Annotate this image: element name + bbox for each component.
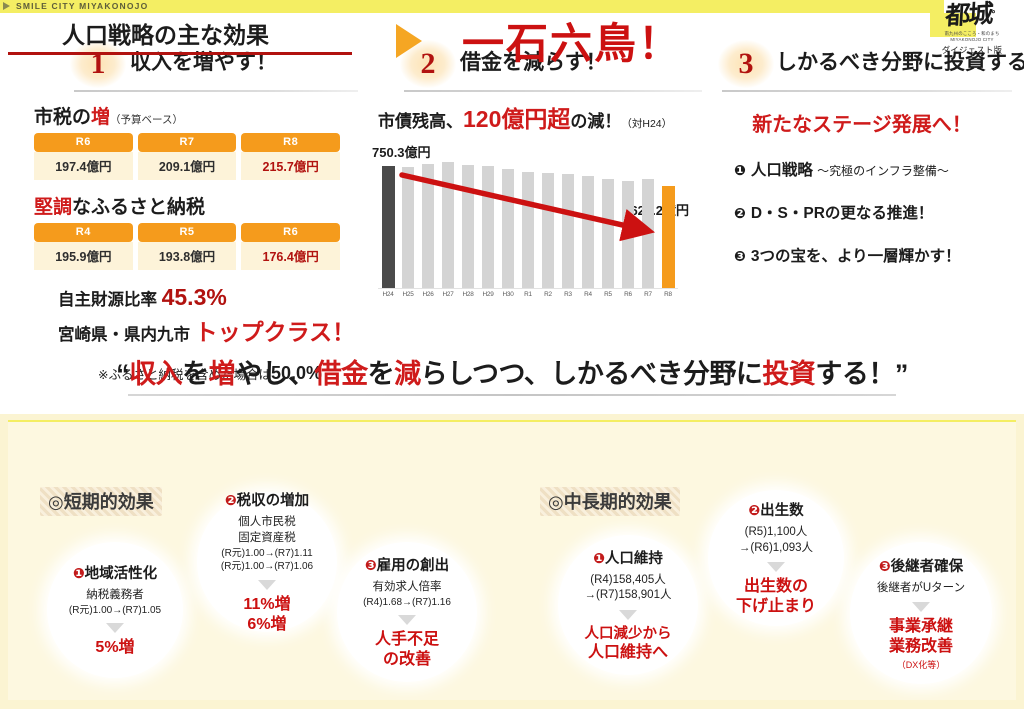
chart-bar [442, 162, 454, 288]
section-1-title: 収入を増やす！ [130, 46, 277, 76]
quote-part-reduce: 減 [394, 359, 421, 389]
table-value-cell: 209.1億円 [138, 152, 237, 180]
bubble-detail-line: 個人市民税 [238, 515, 296, 531]
bubble-number: ❸ [365, 557, 377, 573]
table-column: R7 209.1億円 [138, 133, 237, 180]
triangle-down-icon [258, 580, 276, 590]
chart-bar [622, 181, 634, 288]
bubble-number: ❶ [73, 565, 85, 581]
chart-x-tick-label: R3 [558, 291, 578, 298]
chart-plot-area [378, 158, 678, 288]
chart-x-tick-label: H26 [418, 291, 438, 298]
municipal-tax-table: R6 197.4億円 R7 209.1億円 R8 215.7億円 [34, 133, 340, 180]
effect-bubble-1: ❶地域活性化納税義務者(R元)1.00→(R7)1.055%増 [47, 542, 183, 678]
chart-x-tick-label: R1 [518, 291, 538, 298]
self-funding-ratio-value: 45.3% [162, 284, 227, 310]
invest-item-2-label: D・S・PRの更なる推進！ [751, 205, 934, 222]
furusato-tax-title: 堅調なふるさと納税 [34, 192, 358, 219]
prefecture-rank: 宮崎県・県内九市 トップクラス！ [58, 313, 358, 347]
table-header-cell: R5 [138, 223, 237, 242]
debt-chart-title: 市債残高、120億円超の減！（対H24） [378, 100, 702, 134]
effect-bubble-6: ❸後継者確保後継者がUターン事業承継業務改善（DX化等） [850, 542, 992, 684]
table-column: R6 197.4億円 [34, 133, 133, 180]
bubble-detail-line: 有効求人倍率 [373, 580, 442, 596]
section-1-divider [74, 90, 358, 92]
section-increase-income: 1 収入を増やす！ 市税の増（予算ベース） R6 197.4億円 R7 209.… [18, 38, 358, 384]
quote-part-debt: 借金 [315, 359, 368, 389]
bubble-result: 人口維持へ [588, 643, 668, 663]
chart-x-tick-label: R8 [658, 291, 678, 298]
effect-bubble-2: ❷税収の増加個人市民税固定資産税(R元)1.00→(R7)1.11(R元)1.0… [197, 492, 337, 632]
triangle-down-icon [912, 602, 930, 612]
invest-item-3: ❸3つの宝を、より一層輝かす！ [734, 244, 1012, 266]
table-column: R8 215.7億円 [241, 133, 340, 180]
chart-x-tick-label: H30 [498, 291, 518, 298]
center-quote: “収入を増やし、借金を減らしつつ、しかるべき分野に投資する！” [116, 352, 908, 391]
bubble-heading: ❶地域活性化 [73, 562, 157, 583]
chart-bar [482, 166, 494, 288]
table-value-cell-highlight: 176.4億円 [241, 242, 340, 270]
municipal-tax-title-note: （予算ベース） [110, 114, 183, 126]
triangle-down-icon [619, 610, 637, 620]
table-value-cell: 197.4億円 [34, 152, 133, 180]
debt-chart-title-amount: 120億円超 [463, 106, 570, 132]
table-header-cell: R8 [241, 133, 340, 152]
table-column: R4 195.9億円 [34, 223, 133, 270]
chart-x-tick-label: H24 [378, 291, 398, 298]
bubble-detail-line: 固定資産税 [238, 531, 296, 547]
quote-open: “ [116, 359, 129, 389]
effect-bubble-4: ❶人口維持(R4)158,405人→(R7)158,901人人口減少から人口維持… [558, 535, 698, 675]
bubble-heading: ❷税収の増加 [225, 489, 309, 510]
quote-part-8: らしつつ、しかるべき分野に [421, 359, 763, 389]
subhead-short-term: ◎短期的効果 [40, 487, 162, 516]
bubble-result-note: （DX化等） [897, 658, 946, 671]
triangle-right-icon [396, 24, 422, 58]
invest-item-3-label: 3つの宝を、より一層輝かす！ [751, 248, 961, 265]
bubble-result: 出生数の [744, 577, 808, 597]
center-quote-block: “収入を増やし、借金を減らしつつ、しかるべき分野に投資する！” [0, 352, 1024, 396]
bubble-result: 11%増 [243, 595, 290, 615]
quote-part-4: やし、 [235, 359, 315, 389]
triangle-down-icon [106, 623, 124, 633]
chart-bar [542, 173, 554, 288]
debt-bar-chart: 750.3億円 628.2億円 H24H25H26H27H28H29H30R1R… [372, 142, 692, 332]
bubble-result: 人口減少から [585, 625, 672, 643]
section-invest: 3 しかるべき分野に投資する！ 新たなステージ発展へ！ ❶人口戦略 ～究極のイン… [712, 38, 1012, 266]
bubble-detail-line: →(R7)158,901人 [585, 588, 672, 604]
prefecture-rank-label: 宮崎県・県内九市 [58, 326, 195, 344]
bubble-result: 業務改善 [889, 637, 953, 657]
new-stage-headline: 新たなステージ発展へ！ [712, 108, 1012, 137]
chart-x-tick-label: R7 [638, 291, 658, 298]
chart-bar [602, 179, 614, 288]
municipal-tax-title: 市税の増（予算ベース） [34, 102, 358, 129]
invest-item-2: ❷D・S・PRの更なる推進！ [734, 201, 1012, 223]
table-value-cell-highlight: 215.7億円 [241, 152, 340, 180]
logo-kanji-text: 都城 [945, 0, 993, 30]
debt-chart-title-pre: 市債残高、 [378, 112, 463, 131]
effect-bubble-5: ❷出生数(R5)1,100人→(R6)1,093人出生数の下げ止まり [708, 490, 844, 626]
bubble-detail-line: (R4)1.68→(R7)1.16 [363, 596, 451, 610]
chart-x-tick-label: H28 [458, 291, 478, 298]
quote-part-invest: 投資 [762, 359, 815, 389]
bubble-heading: ❸雇用の創出 [365, 554, 449, 575]
debt-chart-title-post: の減！ [570, 112, 621, 131]
chart-bar [382, 166, 395, 288]
table-value-cell: 193.8億円 [138, 242, 237, 270]
bubble-result: 人手不足 [375, 630, 439, 650]
bubble-detail-line: 納税義務者 [86, 588, 144, 604]
invest-item-1: ❶人口戦略 ～究極のインフラ整備～ [734, 158, 1012, 180]
debt-chart-title-basis: （対H24） [621, 118, 672, 130]
invest-item-3-number: ❸ [734, 248, 746, 264]
chart-bar [522, 172, 534, 288]
quote-part-income: 収入 [129, 359, 182, 389]
chart-bar [502, 169, 514, 288]
logo-kanji: 都城。 [925, 0, 1019, 29]
chart-x-tick-label: R2 [538, 291, 558, 298]
triangle-down-icon [767, 562, 785, 572]
chart-bar [582, 176, 594, 288]
chart-x-axis [378, 288, 678, 289]
chart-x-tick-label: R4 [578, 291, 598, 298]
chart-bar [422, 164, 434, 288]
invest-item-2-number: ❷ [734, 205, 746, 221]
bubble-heading: ❷出生数 [748, 499, 803, 520]
triangle-down-icon [398, 615, 416, 625]
section-2-divider [404, 90, 702, 92]
table-header-cell: R6 [34, 133, 133, 152]
bubble-detail-line: (R5)1,100人 [745, 525, 808, 541]
furusato-tax-title-main: なふるさと納税 [72, 197, 205, 218]
bubble-detail-line: (R4)158,405人 [590, 573, 665, 589]
bubble-detail-line: (R元)1.00→(R7)1.05 [69, 604, 161, 618]
invest-item-1-label: 人口戦略 [751, 162, 817, 179]
quote-part-increase: 増 [209, 359, 236, 389]
section-3-header: 3 しかるべき分野に投資する！ [712, 38, 1012, 96]
section-3-number: 3 [718, 40, 774, 88]
bubble-result: 5%増 [95, 638, 134, 658]
self-funding-ratio: 自主財源比率 45.3% [58, 284, 358, 311]
chart-bar [642, 179, 654, 288]
bubble-number: ❶ [593, 550, 605, 566]
chart-x-tick-label: H25 [398, 291, 418, 298]
municipal-tax-title-main: 市税の [34, 107, 91, 128]
bubble-detail-line: (R元)1.00→(R7)1.06 [221, 560, 313, 574]
bubble-detail-line: 後継者がUターン [877, 581, 965, 597]
quote-part-10: する！ [815, 359, 895, 389]
triangle-right-icon [3, 2, 10, 10]
table-column: R5 193.8億円 [138, 223, 237, 270]
bubble-number: ❷ [748, 502, 760, 518]
chart-bar [662, 186, 675, 288]
panel-bottom-strip [0, 700, 1024, 709]
chart-x-tick-label: H29 [478, 291, 498, 298]
subhead-midlong-term: ◎中長期的効果 [540, 487, 680, 516]
bubble-result: 事業承継 [889, 617, 953, 637]
bubble-result: 6%増 [247, 615, 286, 635]
table-header-cell: R6 [241, 223, 340, 242]
section-3-divider [722, 90, 1012, 92]
bubble-result: の改善 [383, 650, 431, 670]
chart-x-tick-label: R6 [618, 291, 638, 298]
bubble-detail-line: →(R6)1,093人 [739, 541, 813, 557]
bubble-number: ❷ [225, 492, 237, 508]
bubble-heading: ❸後継者確保 [879, 555, 963, 576]
panel-catchphrase: 一石六鳥！ [462, 10, 682, 71]
chart-bar [562, 174, 574, 288]
self-funding-ratio-label: 自主財源比率 [58, 291, 162, 309]
panel-title-underline [8, 52, 352, 55]
quote-part-2: を [182, 359, 209, 389]
bubble-detail-line: (R元)1.00→(R7)1.11 [221, 547, 313, 561]
invest-item-1-number: ❶ [734, 162, 746, 178]
logo-dot: 。 [991, 5, 999, 15]
municipal-tax-title-highlight: 増 [91, 107, 110, 128]
quote-part-6: を [368, 359, 395, 389]
bubble-heading: ❶人口維持 [593, 547, 663, 568]
bubble-number: ❸ [879, 558, 891, 574]
table-header-cell: R7 [138, 133, 237, 152]
city-slogan: SMILE CITY MIYAKONOJO [16, 1, 148, 11]
chart-x-tick-label: H27 [438, 291, 458, 298]
quote-close: ” [895, 359, 908, 389]
chart-bar [402, 167, 414, 288]
effect-bubble-3: ❸雇用の創出有効求人倍率(R4)1.68→(R7)1.16人手不足の改善 [337, 542, 477, 682]
table-value-cell: 195.9億円 [34, 242, 133, 270]
invest-item-1-sub: ～究極のインフラ整備～ [817, 164, 949, 178]
furusato-tax-table: R4 195.9億円 R5 193.8億円 R6 176.4億円 [34, 223, 340, 270]
infographic-page: SMILE CITY MIYAKONOJO 都城。 南九州のこころ・和のまちMI… [0, 0, 1024, 709]
section-reduce-debt: 2 借金を減らす！ 市債残高、120億円超の減！（対H24） 750.3億円 6… [372, 38, 702, 332]
quote-divider [128, 394, 896, 396]
table-column: R6 176.4億円 [241, 223, 340, 270]
furusato-tax-title-highlight: 堅調 [34, 197, 72, 218]
bubble-result: 下げ止まり [736, 597, 816, 617]
chart-x-tick-label: R5 [598, 291, 618, 298]
table-header-cell: R4 [34, 223, 133, 242]
section-3-title: しかるべき分野に投資する！ [776, 46, 1024, 76]
chart-bar [462, 165, 474, 288]
panel-title: 人口戦略の主な効果 [62, 16, 269, 50]
prefecture-rank-value: トップクラス！ [195, 319, 356, 345]
